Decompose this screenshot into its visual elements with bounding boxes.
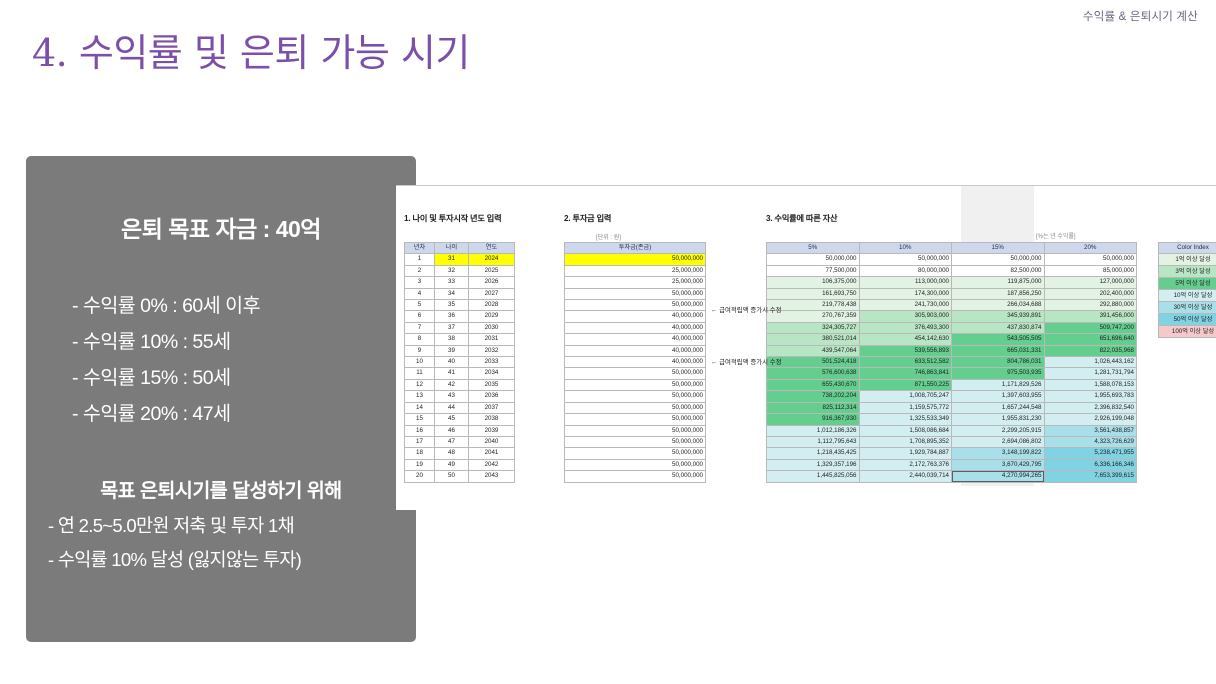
table-cell[interactable]: 241,730,000 <box>859 300 952 311</box>
table-cell[interactable]: 4 <box>405 288 435 299</box>
table-row[interactable]: 8382031 <box>405 334 515 345</box>
rate-list: - 수익률 0% : 60세 이후 - 수익률 10% : 55세 - 수익률 … <box>44 288 398 432</box>
table-cell[interactable]: 106,375,000 <box>767 277 860 288</box>
table-header-row: 5%10%15%20% <box>767 243 1137 254</box>
table-cell[interactable]: 655,430,670 <box>767 379 860 390</box>
returns-table[interactable]: 5%10%15%20% 50,000,00050,000,00050,000,0… <box>766 242 1137 483</box>
table-cell[interactable]: 2040 <box>469 436 515 447</box>
table-cell[interactable]: 50,000,000 <box>952 254 1045 265</box>
table-cell[interactable]: 80,000,000 <box>859 265 952 276</box>
table-cell[interactable]: 50,000,000 <box>1044 254 1137 265</box>
table-row[interactable]: 40,000,000 <box>565 357 706 368</box>
table-cell[interactable]: 2034 <box>469 368 515 379</box>
table-row: 10억 이상 달성 <box>1159 290 1216 302</box>
table-cell[interactable]: 1,708,895,352 <box>859 436 952 447</box>
table-row[interactable]: 380,521,014454,142,630543,505,505651,696… <box>767 334 1137 345</box>
table-cell[interactable]: 2,694,086,802 <box>952 436 1045 447</box>
table-cell[interactable]: 50,000,000 <box>565 425 706 436</box>
table-cell[interactable]: 439,547,064 <box>767 345 860 356</box>
table-cell[interactable]: 15 <box>405 414 435 425</box>
table-cell[interactable]: 4,270,994,265 <box>952 471 1045 482</box>
table-cell[interactable]: 543,505,505 <box>952 334 1045 345</box>
table-cell[interactable]: 871,550,225 <box>859 379 952 390</box>
table-row[interactable]: 50,000,000 <box>565 425 706 436</box>
table-cell[interactable]: 2027 <box>469 288 515 299</box>
sheet-bottom-fade <box>396 492 1216 510</box>
table-cell[interactable]: 1,397,603,955 <box>952 391 1045 402</box>
table-row[interactable]: 50,000,000 <box>565 402 706 413</box>
col-header-rate: 5% <box>767 243 860 254</box>
table-cell[interactable]: 804,786,031 <box>952 357 1045 368</box>
table-cell[interactable]: 8 <box>405 334 435 345</box>
table-cell[interactable]: 2,440,039,714 <box>859 471 952 482</box>
table-cell[interactable]: 2024 <box>469 254 515 265</box>
table-cell[interactable]: 975,503,935 <box>952 368 1045 379</box>
table-cell[interactable]: 40,000,000 <box>565 322 706 333</box>
table-row[interactable]: 77,500,00080,000,00082,500,00085,000,000 <box>767 265 1137 276</box>
spreadsheet-region[interactable]: 1. 나이 및 투자시작 년도 입력 2. 투자금 입력 3. 수익률에 따른 … <box>396 185 1216 510</box>
table-row[interactable]: 12422035 <box>405 379 515 390</box>
color-index-item: 5억 이상 달성 <box>1159 278 1216 290</box>
col-header-age: 나이 <box>435 243 469 254</box>
table-cell[interactable]: 539,556,893 <box>859 345 952 356</box>
table-cell[interactable]: 2043 <box>469 471 515 482</box>
list-item: - 수익률 0% : 60세 이후 <box>44 288 398 324</box>
list-item: - 수익률 15% : 50세 <box>44 360 398 396</box>
age-table[interactable]: 년차 나이 연도 1312024232202533320264342027535… <box>404 242 515 483</box>
table-row[interactable]: 50,000,000 <box>565 471 706 482</box>
table-cell[interactable]: 665,031,331 <box>952 345 1045 356</box>
table-row: 50억 이상 달성 <box>1159 314 1216 326</box>
table-cell[interactable]: 37 <box>435 322 469 333</box>
table-cell[interactable]: 7,653,399,615 <box>1044 471 1137 482</box>
table-cell[interactable]: 40,000,000 <box>565 357 706 368</box>
table-cell[interactable]: 1,325,533,349 <box>859 414 952 425</box>
table-cell[interactable]: 509,747,200 <box>1044 322 1137 333</box>
table-cell[interactable]: 5,238,471,955 <box>1044 448 1137 459</box>
slide-root: 수익률 & 은퇴시기 계산 4. 수익률 및 은퇴 가능 시기 은퇴 목표 자금… <box>0 0 1216 684</box>
table-row: 100억 이상 달성 <box>1159 326 1216 338</box>
table-row[interactable]: 501,524,418633,512,582804,786,0311,026,4… <box>767 357 1137 368</box>
table-cell[interactable]: 2032 <box>469 345 515 356</box>
table-row[interactable]: 50,000,000 <box>565 288 706 299</box>
table-cell[interactable]: 1,929,784,887 <box>859 448 952 459</box>
table-row[interactable]: 825,112,3141,159,575,7721,657,244,5482,3… <box>767 402 1137 413</box>
table-cell[interactable]: 2031 <box>469 334 515 345</box>
table-cell[interactable]: 376,493,300 <box>859 322 952 333</box>
section-label-2: 2. 투자금 입력 <box>564 212 611 224</box>
table-row: 1억 이상 달성 <box>1159 254 1216 266</box>
table-cell[interactable]: 50,000,000 <box>565 448 706 459</box>
table-row[interactable]: 270,767,359305,903,000345,939,891391,456… <box>767 311 1137 322</box>
table-row[interactable]: 2322025 <box>405 265 515 276</box>
table-cell[interactable]: 5 <box>405 300 435 311</box>
table-cell[interactable]: 380,521,014 <box>767 334 860 345</box>
table-cell[interactable]: 38 <box>435 334 469 345</box>
col-header-rate: 20% <box>1044 243 1137 254</box>
table-row[interactable]: 655,430,670871,550,2251,171,829,5261,588… <box>767 379 1137 390</box>
col-header-rate: 10% <box>859 243 952 254</box>
table-cell[interactable]: 50,000,000 <box>565 459 706 470</box>
color-index-item: 3억 이상 달성 <box>1159 266 1216 278</box>
color-index-item: 50억 이상 달성 <box>1159 314 1216 326</box>
table-cell[interactable]: 43 <box>435 391 469 402</box>
table-cell[interactable]: 6,336,166,346 <box>1044 459 1137 470</box>
table-cell[interactable]: 916,367,930 <box>767 414 860 425</box>
table-cell[interactable]: 47 <box>435 436 469 447</box>
table-cell[interactable]: 2030 <box>469 322 515 333</box>
table-cell[interactable]: 35 <box>435 300 469 311</box>
table-cell[interactable]: 292,880,000 <box>1044 300 1137 311</box>
table-cell[interactable]: 2,396,832,540 <box>1044 402 1137 413</box>
table-cell[interactable]: 1,445,825,056 <box>767 471 860 482</box>
table-cell[interactable]: 50,000,000 <box>565 402 706 413</box>
table-row[interactable]: 1,445,825,0562,440,039,7144,270,994,2657… <box>767 471 1137 482</box>
table-row[interactable]: 5352028 <box>405 300 515 311</box>
table-cell[interactable]: 50,000,000 <box>565 379 706 390</box>
table-cell[interactable]: 50,000,000 <box>565 471 706 482</box>
table-cell[interactable]: 161,693,750 <box>767 288 860 299</box>
table-cell[interactable]: 25,000,000 <box>565 265 706 276</box>
table-cell[interactable]: 82,500,000 <box>952 265 1045 276</box>
table-cell[interactable]: 32 <box>435 265 469 276</box>
table-cell[interactable]: 12 <box>405 379 435 390</box>
table-cell[interactable]: 46 <box>435 425 469 436</box>
table-cell[interactable]: 41 <box>435 368 469 379</box>
table-cell[interactable]: 25,000,000 <box>565 277 706 288</box>
table-cell[interactable]: 50,000,000 <box>565 391 706 402</box>
table-cell[interactable]: 44 <box>435 402 469 413</box>
color-index-item: 100억 이상 달성 <box>1159 326 1216 338</box>
color-index-title: Color Index <box>1159 243 1216 254</box>
table-cell[interactable]: 40,000,000 <box>565 345 706 356</box>
table-cell[interactable]: 9 <box>405 345 435 356</box>
list-item: - 수익률 20% : 47세 <box>44 396 398 432</box>
table-cell[interactable]: 50,000,000 <box>767 254 860 265</box>
table-cell[interactable]: 1,955,693,783 <box>1044 391 1137 402</box>
table-row[interactable]: 219,778,438241,730,000266,034,688292,880… <box>767 300 1137 311</box>
table-row[interactable]: 17472040 <box>405 436 515 447</box>
table-cell[interactable]: 33 <box>435 277 469 288</box>
table-row[interactable]: 916,367,9301,325,533,3491,955,831,2302,9… <box>767 414 1137 425</box>
table-cell[interactable]: 1 <box>405 254 435 265</box>
table-row[interactable]: 1312024 <box>405 254 515 265</box>
table-row[interactable]: 50,000,000 <box>565 448 706 459</box>
table-cell[interactable]: 1,026,443,162 <box>1044 357 1137 368</box>
table-cell[interactable]: 2025 <box>469 265 515 276</box>
table-cell[interactable]: 2035 <box>469 379 515 390</box>
table-cell[interactable]: 48 <box>435 448 469 459</box>
table-cell[interactable]: 2036 <box>469 391 515 402</box>
table-row[interactable]: 10402033 <box>405 357 515 368</box>
table-row[interactable]: 576,600,638746,863,841975,503,9351,281,7… <box>767 368 1137 379</box>
table-row[interactable]: 50,000,00050,000,00050,000,00050,000,000 <box>767 254 1137 265</box>
list-item: - 수익률 10% : 55세 <box>44 324 398 360</box>
invest-table[interactable]: 투자금(존금) 50,000,00025,000,00025,000,00050… <box>564 242 706 483</box>
table-cell[interactable]: 14 <box>405 402 435 413</box>
table-cell[interactable]: 1,008,705,247 <box>859 391 952 402</box>
table-cell[interactable]: 2026 <box>469 277 515 288</box>
table-cell[interactable]: 454,142,630 <box>859 334 952 345</box>
table-row[interactable]: 50,000,000 <box>565 254 706 265</box>
list-item: - 연 2.5~5.0만원 저축 및 투자 1채 <box>44 509 398 543</box>
color-index-item: 30억 이상 달성 <box>1159 302 1216 314</box>
table-cell[interactable]: 50,000,000 <box>565 414 706 425</box>
table-cell[interactable]: 2,299,205,915 <box>952 425 1045 436</box>
table-cell[interactable]: 45 <box>435 414 469 425</box>
table-cell[interactable]: 16 <box>405 425 435 436</box>
table-row[interactable]: 4342027 <box>405 288 515 299</box>
table-row[interactable]: 106,375,000113,000,000119,875,000127,000… <box>767 277 1137 288</box>
table-cell[interactable]: 2028 <box>469 300 515 311</box>
page-title: 4. 수익률 및 은퇴 가능 시기 <box>32 22 470 77</box>
table-cell[interactable]: 2 <box>405 265 435 276</box>
table-cell[interactable]: 345,939,891 <box>952 311 1045 322</box>
table-header-row: 년차 나이 연도 <box>405 243 515 254</box>
table-cell[interactable]: 2042 <box>469 459 515 470</box>
table-row[interactable]: 9392032 <box>405 345 515 356</box>
table-cell[interactable]: 1,112,795,643 <box>767 436 860 447</box>
table-cell[interactable]: 576,600,638 <box>767 368 860 379</box>
table-cell[interactable]: 42 <box>435 379 469 390</box>
table-cell[interactable]: 50 <box>435 471 469 482</box>
table-row[interactable]: 161,693,750174,300,000187,856,250202,400… <box>767 288 1137 299</box>
title-text: 수익률 및 은퇴 가능 시기 <box>79 31 470 75</box>
table-cell[interactable]: 1,329,357,196 <box>767 459 860 470</box>
table-cell[interactable]: 2033 <box>469 357 515 368</box>
table-row[interactable]: 18482041 <box>405 448 515 459</box>
table-cell[interactable]: 3,561,438,857 <box>1044 425 1137 436</box>
table-cell[interactable]: 324,305,727 <box>767 322 860 333</box>
table-row: 30억 이상 달성 <box>1159 302 1216 314</box>
table-cell[interactable]: 738,202,204 <box>767 391 860 402</box>
table-cell[interactable]: 49 <box>435 459 469 470</box>
table-cell[interactable]: 127,000,000 <box>1044 277 1137 288</box>
table-cell[interactable]: 39 <box>435 345 469 356</box>
action-list: - 연 2.5~5.0만원 저축 및 투자 1채 - 수익률 10% 달성 (잃… <box>44 509 398 577</box>
table-cell[interactable]: 1,171,829,526 <box>952 379 1045 390</box>
table-cell[interactable]: 40 <box>435 357 469 368</box>
table-row[interactable]: 40,000,000 <box>565 345 706 356</box>
table-row[interactable]: 50,000,000 <box>565 379 706 390</box>
table-cell[interactable]: 50,000,000 <box>565 368 706 379</box>
table-row[interactable]: 14442037 <box>405 402 515 413</box>
table-row[interactable]: 40,000,000 <box>565 334 706 345</box>
color-index-item: 1억 이상 달성 <box>1159 254 1216 266</box>
table-row: 3억 이상 달성 <box>1159 266 1216 278</box>
table-cell[interactable]: 50,000,000 <box>565 300 706 311</box>
table-row[interactable]: 20502043 <box>405 471 515 482</box>
table-cell[interactable]: 1,657,244,548 <box>952 402 1045 413</box>
table-row[interactable]: 40,000,000 <box>565 322 706 333</box>
table-cell[interactable]: 85,000,000 <box>1044 265 1137 276</box>
panel-subtitle: 목표 은퇴시기를 달성하기 위해 <box>44 474 398 503</box>
table-cell[interactable]: 50,000,000 <box>565 436 706 447</box>
table-row[interactable]: 16462039 <box>405 425 515 436</box>
table-cell[interactable]: 50,000,000 <box>565 254 706 265</box>
table-row[interactable]: 25,000,000 <box>565 277 706 288</box>
table-cell[interactable]: 20 <box>405 471 435 482</box>
table-cell[interactable]: 2029 <box>469 311 515 322</box>
rate-note: [%는 년 수익률] <box>1036 231 1076 240</box>
table-cell[interactable]: 187,856,250 <box>952 288 1045 299</box>
table-cell[interactable]: 825,112,314 <box>767 402 860 413</box>
table-cell[interactable]: 2039 <box>469 425 515 436</box>
table-row[interactable]: 738,202,2041,008,705,2471,397,603,9551,9… <box>767 391 1137 402</box>
table-cell[interactable]: 3 <box>405 277 435 288</box>
panel-title: 은퇴 목표 자금 : 40억 <box>44 210 398 244</box>
table-cell[interactable]: 3,670,429,795 <box>952 459 1045 470</box>
col-header-invest: 투자금(존금) <box>565 243 706 254</box>
table-cell[interactable]: 266,034,688 <box>952 300 1045 311</box>
table-row[interactable]: 50,000,000 <box>565 436 706 447</box>
table-row[interactable]: 11412034 <box>405 368 515 379</box>
table-cell[interactable]: 113,000,000 <box>859 277 952 288</box>
table-cell[interactable]: 17 <box>405 436 435 447</box>
table-row: 5억 이상 달성 <box>1159 278 1216 290</box>
table-row[interactable]: 19492042 <box>405 459 515 470</box>
table-cell[interactable]: 36 <box>435 311 469 322</box>
table-cell[interactable]: 19 <box>405 459 435 470</box>
table-cell[interactable]: 1,955,831,230 <box>952 414 1045 425</box>
table-cell[interactable]: 3,148,199,822 <box>952 448 1045 459</box>
summary-panel: 은퇴 목표 자금 : 40억 - 수익률 0% : 60세 이후 - 수익률 1… <box>26 156 416 642</box>
table-row[interactable]: 50,000,000 <box>565 300 706 311</box>
table-cell[interactable]: 2,926,199,048 <box>1044 414 1137 425</box>
table-row[interactable]: 1,329,357,1962,172,763,3763,670,429,7956… <box>767 459 1137 470</box>
table-cell[interactable]: 13 <box>405 391 435 402</box>
table-row[interactable]: 40,000,000 <box>565 311 706 322</box>
table-cell[interactable]: 119,875,000 <box>952 277 1045 288</box>
color-index-legend: Color Index 1억 이상 달성3억 이상 달성5억 이상 달성10억 … <box>1158 242 1216 338</box>
table-cell[interactable]: 31 <box>435 254 469 265</box>
table-cell[interactable]: 2037 <box>469 402 515 413</box>
table-row[interactable]: 50,000,000 <box>565 414 706 425</box>
cell-annotation: ← 급여적립액 증가시 수정 <box>711 357 782 366</box>
table-cell[interactable]: 6 <box>405 311 435 322</box>
table-cell[interactable]: 305,903,000 <box>859 311 952 322</box>
table-row[interactable]: 1,012,186,3261,508,086,6842,299,205,9153… <box>767 425 1137 436</box>
cell-annotation: ← 급여적립액 증가시 수정 <box>711 305 782 314</box>
list-item: - 수익률 10% 달성 (잃지않는 투자) <box>44 543 398 577</box>
table-cell[interactable]: 4,323,726,629 <box>1044 436 1137 447</box>
table-row[interactable]: 324,305,727376,493,300437,830,874509,747… <box>767 322 1137 333</box>
table-cell[interactable]: 1,159,575,772 <box>859 402 952 413</box>
table-cell[interactable]: 77,500,000 <box>767 265 860 276</box>
table-row[interactable]: 3332026 <box>405 277 515 288</box>
table-cell[interactable]: 2038 <box>469 414 515 425</box>
table-header-row: Color Index <box>1159 243 1216 254</box>
table-row[interactable]: 15452038 <box>405 414 515 425</box>
table-cell[interactable]: 1,508,086,684 <box>859 425 952 436</box>
table-cell[interactable]: 1,012,186,326 <box>767 425 860 436</box>
color-index-item: 10억 이상 달성 <box>1159 290 1216 302</box>
col-header-year: 연도 <box>469 243 515 254</box>
table-cell[interactable]: 40,000,000 <box>565 334 706 345</box>
table-row[interactable]: 25,000,000 <box>565 265 706 276</box>
table-cell[interactable]: 40,000,000 <box>565 311 706 322</box>
header-note: 수익률 & 은퇴시기 계산 <box>1083 8 1198 24</box>
table-row[interactable]: 50,000,000 <box>565 368 706 379</box>
table-row[interactable]: 6362029 <box>405 311 515 322</box>
table-cell[interactable]: 1,218,435,425 <box>767 448 860 459</box>
table-row[interactable]: 1,218,435,4251,929,784,8873,148,199,8225… <box>767 448 1137 459</box>
table-cell[interactable]: 633,512,582 <box>859 357 952 368</box>
table-cell[interactable]: 391,456,000 <box>1044 311 1137 322</box>
table-cell[interactable]: 651,696,640 <box>1044 334 1137 345</box>
col-header-rate: 15% <box>952 243 1045 254</box>
table-row[interactable]: 1,112,795,6431,708,895,3522,694,086,8024… <box>767 436 1137 447</box>
table-cell[interactable]: 1,281,731,794 <box>1044 368 1137 379</box>
table-cell[interactable]: 174,300,000 <box>859 288 952 299</box>
title-number: 4. <box>32 31 67 75</box>
table-cell[interactable]: 2041 <box>469 448 515 459</box>
table-cell[interactable]: 50,000,000 <box>859 254 952 265</box>
col-header-year-index: 년차 <box>405 243 435 254</box>
table-cell[interactable]: 202,400,000 <box>1044 288 1137 299</box>
table-row[interactable]: 50,000,000 <box>565 391 706 402</box>
table-cell[interactable]: 2,172,763,376 <box>859 459 952 470</box>
table-cell[interactable]: 50,000,000 <box>565 288 706 299</box>
table-cell[interactable]: 11 <box>405 368 435 379</box>
section-label-1: 1. 나이 및 투자시작 년도 입력 <box>404 212 501 224</box>
table-cell[interactable]: 746,863,841 <box>859 368 952 379</box>
table-row[interactable]: 439,547,064539,556,893665,031,331822,035… <box>767 345 1137 356</box>
table-row[interactable]: 50,000,000 <box>565 459 706 470</box>
unit-note: [단위 : 원] <box>596 232 621 241</box>
table-cell[interactable]: 822,035,968 <box>1044 345 1137 356</box>
table-cell[interactable]: 437,830,874 <box>952 322 1045 333</box>
table-cell[interactable]: 7 <box>405 322 435 333</box>
table-cell[interactable]: 1,588,078,153 <box>1044 379 1137 390</box>
table-row[interactable]: 13432036 <box>405 391 515 402</box>
table-cell[interactable]: 18 <box>405 448 435 459</box>
table-header-row: 투자금(존금) <box>565 243 706 254</box>
section-label-3: 3. 수익률에 따른 자산 <box>766 212 837 224</box>
table-cell[interactable]: 34 <box>435 288 469 299</box>
table-row[interactable]: 7372030 <box>405 322 515 333</box>
table-cell[interactable]: 10 <box>405 357 435 368</box>
